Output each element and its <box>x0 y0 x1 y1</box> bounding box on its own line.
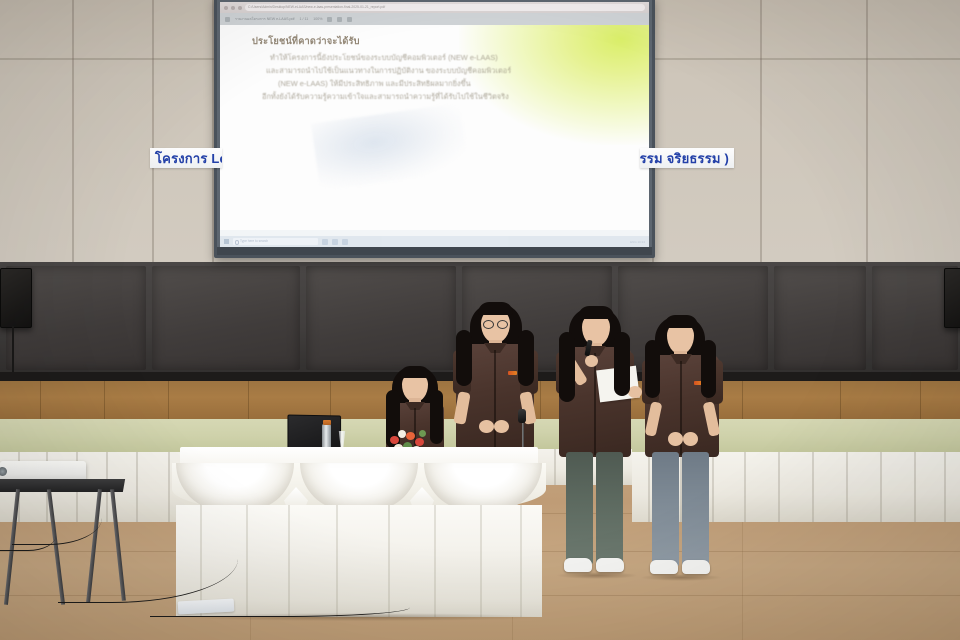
projection-surface: C:/Users/Admin/Desktop/NEW-eLAAS/new-e-l… <box>220 2 649 247</box>
hand-left <box>479 420 494 433</box>
slide-watermark-image <box>311 103 469 191</box>
taskbar-app-icon[interactable] <box>332 239 338 245</box>
slide-body-line: อีกทั้งยังได้รับความรู้ความเข้าใจและสามา… <box>262 91 509 103</box>
screen-bottom-bar <box>217 247 652 255</box>
wall-seam <box>72 0 74 262</box>
hand-right <box>494 420 509 433</box>
trousers-right-leg <box>596 452 623 564</box>
taskbar-app-icon[interactable] <box>342 239 348 245</box>
presentation-photo-scene: C:/Users/Admin/Desktop/NEW-eLAAS/new-e-l… <box>0 0 960 640</box>
presentation-table <box>172 447 546 617</box>
shirt-placket <box>594 353 596 455</box>
glasses-icon <box>483 320 494 329</box>
hand-holding-papers <box>628 386 642 398</box>
slide-accent-gradient <box>459 25 649 145</box>
browser-dot-icon <box>238 6 242 10</box>
windows-start-icon[interactable] <box>224 239 229 244</box>
taskbar-search-input[interactable]: Type here to search <box>233 238 318 245</box>
browser-tabstrip: C:/Users/Admin/Desktop/NEW-eLAAS/new-e-l… <box>220 2 649 13</box>
glasses-icon <box>497 320 508 329</box>
wall-seam <box>760 0 762 262</box>
shirt-logo <box>508 371 517 375</box>
shoe-right <box>682 560 710 574</box>
event-banner-right: รรม จริยธรรม ) <box>640 148 734 168</box>
shoe-left <box>564 558 592 572</box>
pdf-sidebar-icon[interactable] <box>225 17 230 22</box>
pdf-slide-page: ประโยชน์ที่คาดว่าจะได้รับ ทำให้โครงการนี… <box>220 25 649 230</box>
pdf-download-icon[interactable] <box>347 17 352 22</box>
hand-holding-microphone <box>585 355 598 367</box>
windows-taskbar: Type here to search ENG 10:24 <box>220 236 649 247</box>
pdf-print-icon[interactable] <box>337 17 342 22</box>
hair-strand <box>518 330 534 386</box>
hair-strand <box>456 330 472 386</box>
shoe-right <box>596 558 624 572</box>
browser-dot-icon <box>231 6 235 10</box>
hair-fringe <box>664 315 698 328</box>
wall-seam <box>866 0 868 262</box>
shoe-left <box>650 560 678 574</box>
taskbar-app-icon[interactable] <box>322 239 328 245</box>
hair-strand <box>430 390 443 444</box>
browser-dot-icon <box>224 6 228 10</box>
pdf-viewer-toolbar: รายงานผลโครงการ NEW e-LAAS.pdf 1 / 11 10… <box>220 13 649 25</box>
acoustic-panel <box>152 266 300 370</box>
slide-body-line: และสามารถนำไปใช้เป็นแนวทางในการปฏิบัติงา… <box>266 65 511 77</box>
pdf-document-title: รายงานผลโครงการ NEW e-LAAS.pdf <box>235 16 295 22</box>
hand-right <box>683 432 698 446</box>
trousers-left-leg <box>566 452 593 564</box>
pdf-rotate-icon[interactable] <box>327 17 332 22</box>
browser-url-bar[interactable]: C:/Users/Admin/Desktop/NEW-eLAAS/new-e-l… <box>245 4 645 11</box>
slide-heading: ประโยชน์ที่คาดว่าจะได้รับ <box>252 34 360 49</box>
jeans-right-leg <box>682 452 709 566</box>
hand-left <box>668 432 683 446</box>
power-cable <box>150 598 410 617</box>
wall-seam <box>152 0 154 262</box>
hair-strand <box>645 340 660 398</box>
shirt-placket <box>494 350 496 448</box>
slide-body-line: ทำให้โครงการนี้ยังประโยชน์ของระบบบัญชีคอ… <box>270 52 498 64</box>
pdf-zoom-level[interactable]: 100% <box>313 17 322 21</box>
hair-strand <box>701 340 716 398</box>
acoustic-panel <box>306 266 456 370</box>
hair-strand <box>559 332 575 402</box>
speaker-left <box>0 268 32 328</box>
hair-fringe <box>478 302 513 315</box>
taskbar-system-tray[interactable]: ENG 10:24 <box>630 240 645 244</box>
hair-fringe <box>400 366 430 378</box>
event-banner-left: โครงการ Lea <box>150 148 222 168</box>
hair-fringe <box>578 306 614 319</box>
desk-microphone-head <box>518 409 526 423</box>
power-cable <box>0 520 56 551</box>
slide-body-line: (NEW e-LAAS) ให้มีประสิทธิภาพ และมีประสิ… <box>278 78 471 90</box>
water-bottle-cap <box>323 420 331 425</box>
speaker-left-stem <box>12 326 14 372</box>
pdf-page-indicator[interactable]: 1 / 11 <box>300 17 309 21</box>
hair-strand <box>614 332 630 396</box>
projection-screen: C:/Users/Admin/Desktop/NEW-eLAAS/new-e-l… <box>214 0 655 258</box>
acoustic-panel <box>774 266 866 370</box>
jeans-left-leg <box>652 452 679 566</box>
speaker-right <box>944 268 960 328</box>
